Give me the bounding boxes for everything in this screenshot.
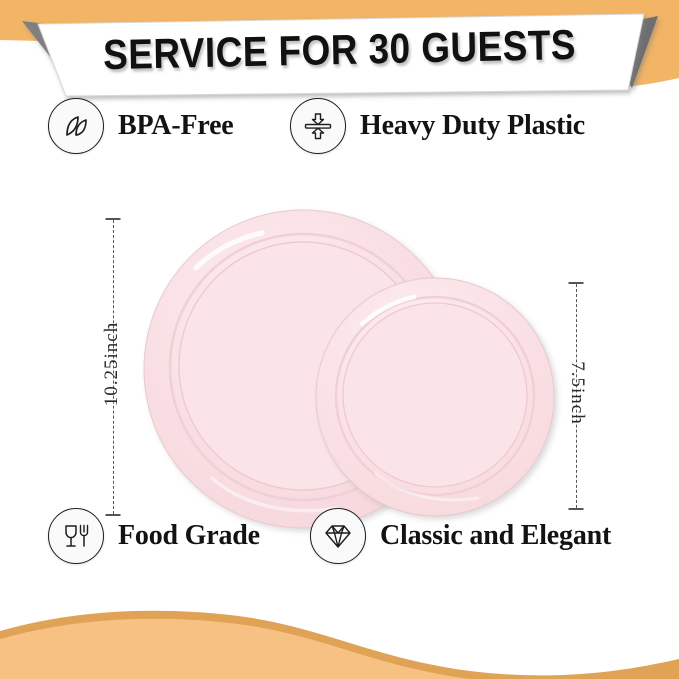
dimension-salad-plate: 7.5inch <box>562 282 590 510</box>
feature-classic-and-elegant[interactable]: Classic and Elegant <box>310 508 611 564</box>
dimension-dinner-plate: 10.25inch <box>99 218 127 516</box>
infographic-canvas: SERVICE FOR 30 GUESTS BPA-Free <box>0 0 679 679</box>
feature-label-food-grade: Food Grade <box>118 520 260 552</box>
dimension-label-dinner-plate: 10.25inch <box>101 309 123 419</box>
dimension-label-salad-plate: 7.5inch <box>566 348 588 438</box>
diamond-icon <box>310 508 366 564</box>
feature-food-grade[interactable]: Food Grade <box>48 508 260 564</box>
glass-fork-icon <box>48 508 104 564</box>
salad-plate <box>316 278 554 516</box>
feature-label-classic-and-elegant: Classic and Elegant <box>380 520 611 552</box>
